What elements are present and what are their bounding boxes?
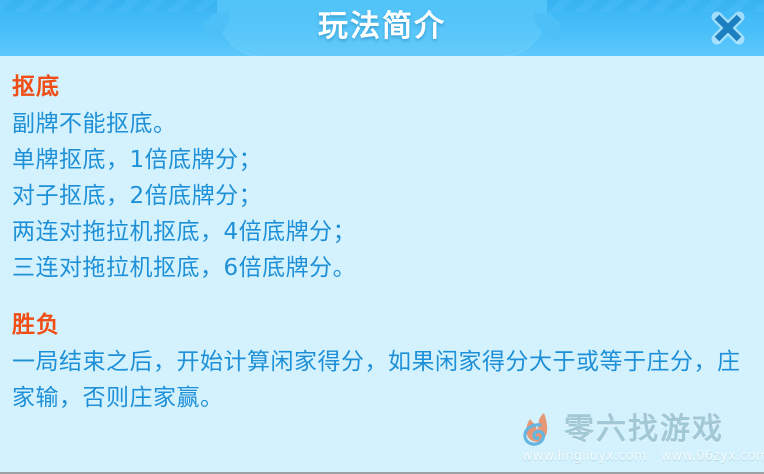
close-x-icon	[704, 4, 752, 52]
section-heading: 胜负	[12, 308, 754, 342]
dialog-title: 玩法简介	[0, 0, 764, 56]
rule-line: 两连对拖拉机抠底，4倍底牌分；	[12, 214, 754, 250]
rule-line: 单牌抠底，1倍底牌分；	[12, 142, 754, 178]
rules-content: 抠底 副牌不能抠底。 单牌抠底，1倍底牌分； 对子抠底，2倍底牌分； 两连对拖拉…	[0, 56, 764, 472]
game-rules-dialog: 玩法简介 抠底 副牌不能抠底。 单牌抠底，1倍底牌分； 对子抠底，2倍底牌分； …	[0, 0, 764, 474]
rule-line: 对子抠底，2倍底牌分；	[12, 178, 754, 214]
rules-section: 胜负 一局结束之后，开始计算闲家得分，如果闲家得分大于或等于庄分，庄家输，否则庄…	[10, 308, 754, 416]
section-heading: 抠底	[12, 70, 754, 104]
rule-line: 三连对拖拉机抠底，6倍底牌分。	[12, 250, 754, 286]
dialog-titlebar: 玩法简介	[0, 0, 764, 56]
rule-line: 副牌不能抠底。	[12, 106, 754, 142]
close-button[interactable]	[704, 4, 752, 52]
rules-section: 抠底 副牌不能抠底。 单牌抠底，1倍底牌分； 对子抠底，2倍底牌分； 两连对拖拉…	[10, 70, 754, 286]
rule-line: 一局结束之后，开始计算闲家得分，如果闲家得分大于或等于庄分，庄家输，否则庄家赢。	[12, 344, 754, 416]
